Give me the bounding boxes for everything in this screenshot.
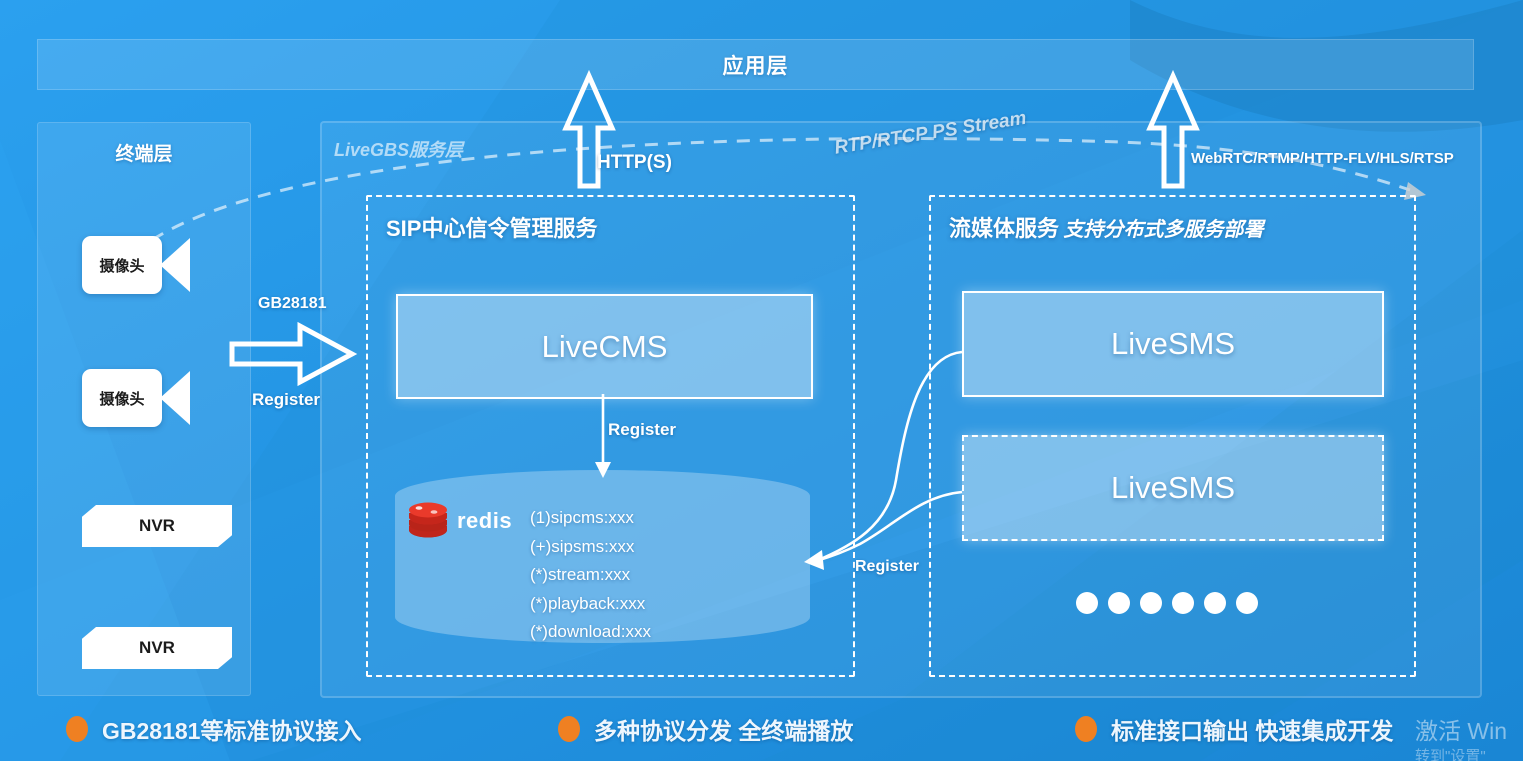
nvr-label-1: NVR xyxy=(139,516,175,536)
sip-panel-title: SIP中心信令管理服务 xyxy=(386,211,597,243)
sms-panel-title: 流媒体服务 支持分布式多服务部署 xyxy=(949,211,1263,243)
livesms-label-2: LiveSMS xyxy=(1111,470,1235,506)
livecms-label: LiveCMS xyxy=(542,329,668,365)
instance-dot xyxy=(1076,592,1098,614)
webrtc-block-arrow-icon xyxy=(1147,72,1199,190)
redis-stack-icon xyxy=(406,502,450,540)
windows-activation-watermark: 激活 Win 转到"设置" xyxy=(1415,718,1523,761)
redis-key-4: (*)download:xxx xyxy=(530,618,651,647)
nvr-label-2: NVR xyxy=(139,638,175,658)
camera-label-1: 摄像头 xyxy=(99,255,144,276)
instance-dot xyxy=(1204,592,1226,614)
redis-key-1: (+)sipsms:xxx xyxy=(530,533,651,562)
application-layer-bar: 应用层 xyxy=(37,39,1474,90)
bullet-icon xyxy=(1075,716,1097,742)
device-camera-2[interactable]: 摄像头 xyxy=(82,369,190,427)
redis-key-list: (1)sipcms:xxx (+)sipsms:xxx (*)stream:xx… xyxy=(530,504,651,647)
feature-label-2: 标准接口输出 快速集成开发 xyxy=(1111,712,1393,746)
application-layer-title: 应用层 xyxy=(723,50,789,80)
instance-dot xyxy=(1236,592,1258,614)
sms-panel-title-bold: 流媒体服务 xyxy=(949,216,1059,241)
livesms-instance-dots xyxy=(1076,592,1258,614)
livesms-service-box-1[interactable]: LiveSMS xyxy=(962,291,1384,397)
watermark-line-1: 激活 Win xyxy=(1415,718,1523,744)
diagram-canvas: 应用层 终端层 摄像头 摄像头 NVR NVR GB28181 Register xyxy=(0,0,1523,761)
sms-panel-title-italic: 支持分布式多服务部署 xyxy=(1063,219,1263,241)
livesms-register-curved-arrows xyxy=(800,340,980,580)
camera-body-2: 摄像头 xyxy=(82,369,162,427)
instance-dot xyxy=(1172,592,1194,614)
device-nvr-1[interactable]: NVR xyxy=(82,505,232,547)
livesms-label-1: LiveSMS xyxy=(1111,326,1235,362)
instance-dot xyxy=(1108,592,1130,614)
redis-logo: redis xyxy=(406,502,512,540)
livecms-register-label: Register xyxy=(608,420,676,440)
feature-item-2: 标准接口输出 快速集成开发 xyxy=(1075,712,1393,746)
feature-label-0: GB28181等标准协议接入 xyxy=(102,712,361,746)
redis-key-2: (*)stream:xxx xyxy=(530,561,651,590)
camera-label-2: 摄像头 xyxy=(99,388,144,409)
footer-features: GB28181等标准协议接入 多种协议分发 全终端播放 标准接口输出 快速集成开… xyxy=(0,712,1523,761)
webrtc-protocols-label: WebRTC/RTMP/HTTP-FLV/HLS/RTSP xyxy=(1191,150,1454,167)
gb28181-label: GB28181 xyxy=(258,295,327,313)
device-nvr-2[interactable]: NVR xyxy=(82,627,232,669)
redis-key-0: (1)sipcms:xxx xyxy=(530,504,651,533)
livesms-service-box-2[interactable]: LiveSMS xyxy=(962,435,1384,541)
https-label: HTTP(S) xyxy=(597,152,672,174)
feature-label-1: 多种协议分发 全终端播放 xyxy=(594,712,853,746)
livecms-service-box[interactable]: LiveCMS xyxy=(396,294,813,399)
camera-lens-icon-2 xyxy=(160,371,190,425)
redis-logo-text: redis xyxy=(457,508,512,534)
instance-dot xyxy=(1140,592,1162,614)
bullet-icon xyxy=(558,716,580,742)
redis-key-3: (*)playback:xxx xyxy=(530,590,651,619)
sip-panel-title-text: SIP中心信令管理服务 xyxy=(386,216,597,241)
bullet-icon xyxy=(66,716,88,742)
gb28181-register-label: Register xyxy=(252,390,320,410)
feature-item-1: 多种协议分发 全终端播放 xyxy=(558,712,853,746)
livesms-register-label: Register xyxy=(855,558,919,576)
watermark-line-2: 转到"设置" xyxy=(1415,744,1523,761)
feature-item-0: GB28181等标准协议接入 xyxy=(66,712,361,746)
